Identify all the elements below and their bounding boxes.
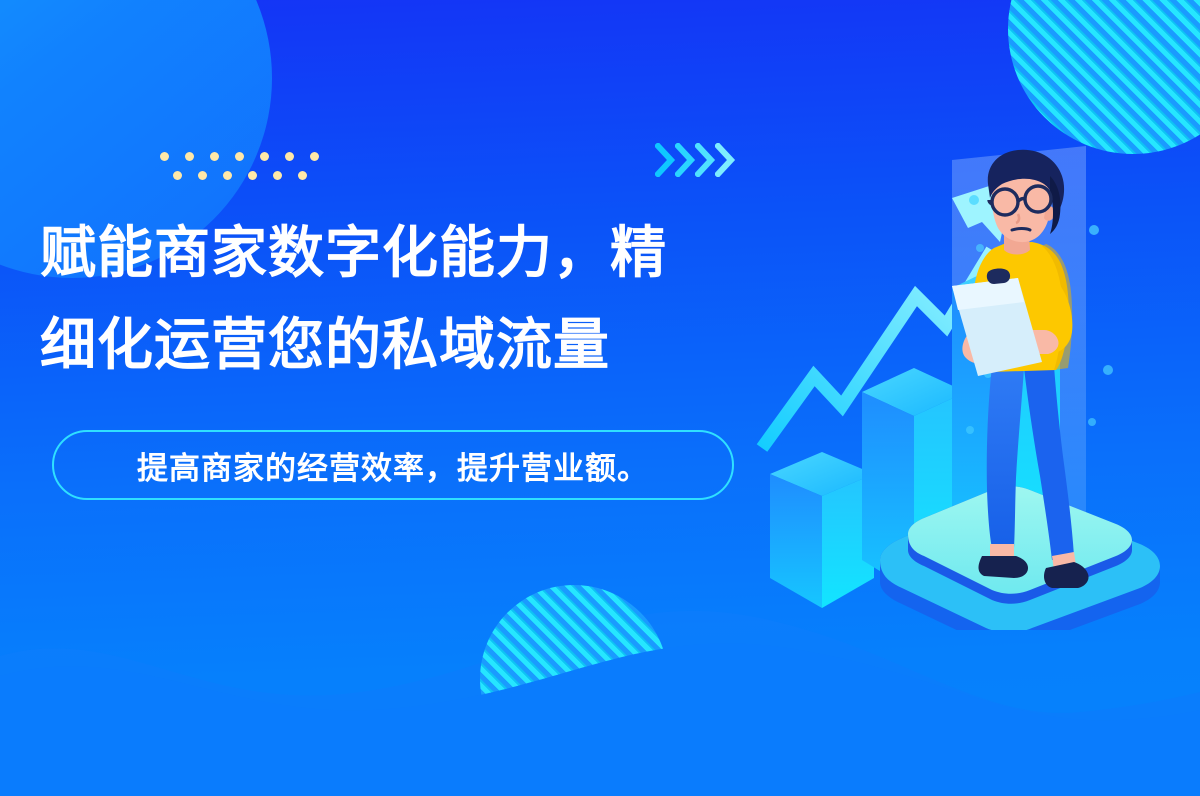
decorative-dot bbox=[210, 152, 219, 161]
chevron-arrow-group bbox=[655, 143, 735, 177]
decorative-dot bbox=[310, 152, 319, 161]
dot-grid-decoration bbox=[160, 152, 335, 180]
headline-line-1: 赋能商家数字化能力，精 bbox=[40, 207, 667, 299]
decorative-dot bbox=[273, 171, 282, 180]
decorative-dot bbox=[198, 171, 207, 180]
marketing-banner: 赋能商家数字化能力，精 细化运营您的私域流量 提高商家的经营效率，提升营业额。 bbox=[0, 0, 1200, 796]
page-title: 赋能商家数字化能力，精 细化运营您的私域流量 bbox=[40, 207, 667, 391]
dot-row-top bbox=[160, 152, 335, 161]
decorative-dot bbox=[285, 152, 294, 161]
subtitle-text: 提高商家的经营效率，提升营业额。 bbox=[137, 443, 649, 488]
decorative-dot bbox=[223, 171, 232, 180]
decorative-dot bbox=[298, 171, 307, 180]
headline-line-2: 细化运营您的私域流量 bbox=[40, 299, 667, 391]
chevron-right-icon bbox=[695, 143, 717, 177]
chevron-right-icon bbox=[675, 143, 697, 177]
chart-bar-1 bbox=[770, 452, 874, 608]
chevron-right-icon bbox=[655, 143, 677, 177]
decorative-dot bbox=[185, 152, 194, 161]
decorative-dot bbox=[260, 152, 269, 161]
left-shoe bbox=[979, 556, 1029, 578]
hero-illustration bbox=[756, 130, 1200, 630]
subtitle-pill: 提高商家的经营效率，提升营业额。 bbox=[52, 430, 734, 500]
dot-row-bottom bbox=[173, 171, 335, 180]
chevron-right-icon bbox=[715, 143, 737, 177]
decorative-dot bbox=[160, 152, 169, 161]
decorative-dot bbox=[235, 152, 244, 161]
decorative-dot bbox=[173, 171, 182, 180]
decorative-dot bbox=[248, 171, 257, 180]
clipboard-clip bbox=[987, 268, 1010, 284]
